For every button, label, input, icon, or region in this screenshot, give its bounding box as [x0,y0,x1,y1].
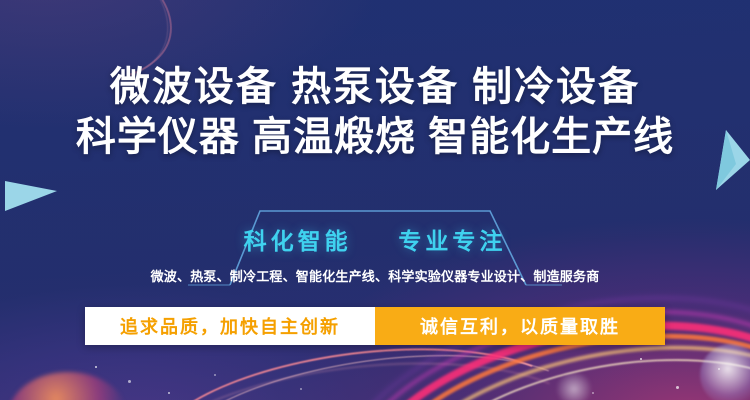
sparkle-dot [214,374,216,376]
description-text: 微波、热泵、制冷工程、智能化生产线、科学实验仪器专业设计、制造服务商 [0,266,750,285]
slogan-pill-integrity[interactable]: 诚信互利，以质量取胜 [375,307,665,345]
glow-orb [700,344,750,400]
glow-orb [554,372,594,400]
subtitle-right: 专业专注 [398,228,506,254]
glow-orb [8,372,128,400]
triangle-right-icon [5,181,57,211]
sparkle-dot [300,388,302,390]
page-title: 微波设备 热泵设备 制冷设备 科学仪器 高温煅烧 智能化生产线 [0,62,750,162]
sparkle-dot [676,386,679,389]
promo-banner: 微波设备 热泵设备 制冷设备 科学仪器 高温煅烧 智能化生产线 科化智能 专业专… [0,0,750,400]
sparkle-dot [592,392,594,394]
sparkle-dot [168,392,170,394]
light-ribbon-bottom-left [131,343,599,400]
subtitle-left: 科化智能 [244,228,352,254]
headline-line-2: 科学仪器 高温煅烧 智能化生产线 [0,112,750,162]
sparkle-dot [95,366,97,368]
headline-line-1: 微波设备 热泵设备 制冷设备 [0,62,750,112]
sparkle-dot [718,368,720,370]
slogan-pill-group: 追求品质，加快自主创新 诚信互利，以质量取胜 [85,307,665,345]
sparkle-dot [128,380,131,383]
subtitle: 科化智能 专业专注 [0,222,750,256]
slogan-pill-quality[interactable]: 追求品质，加快自主创新 [85,307,375,345]
sparkle-dot [640,358,642,360]
